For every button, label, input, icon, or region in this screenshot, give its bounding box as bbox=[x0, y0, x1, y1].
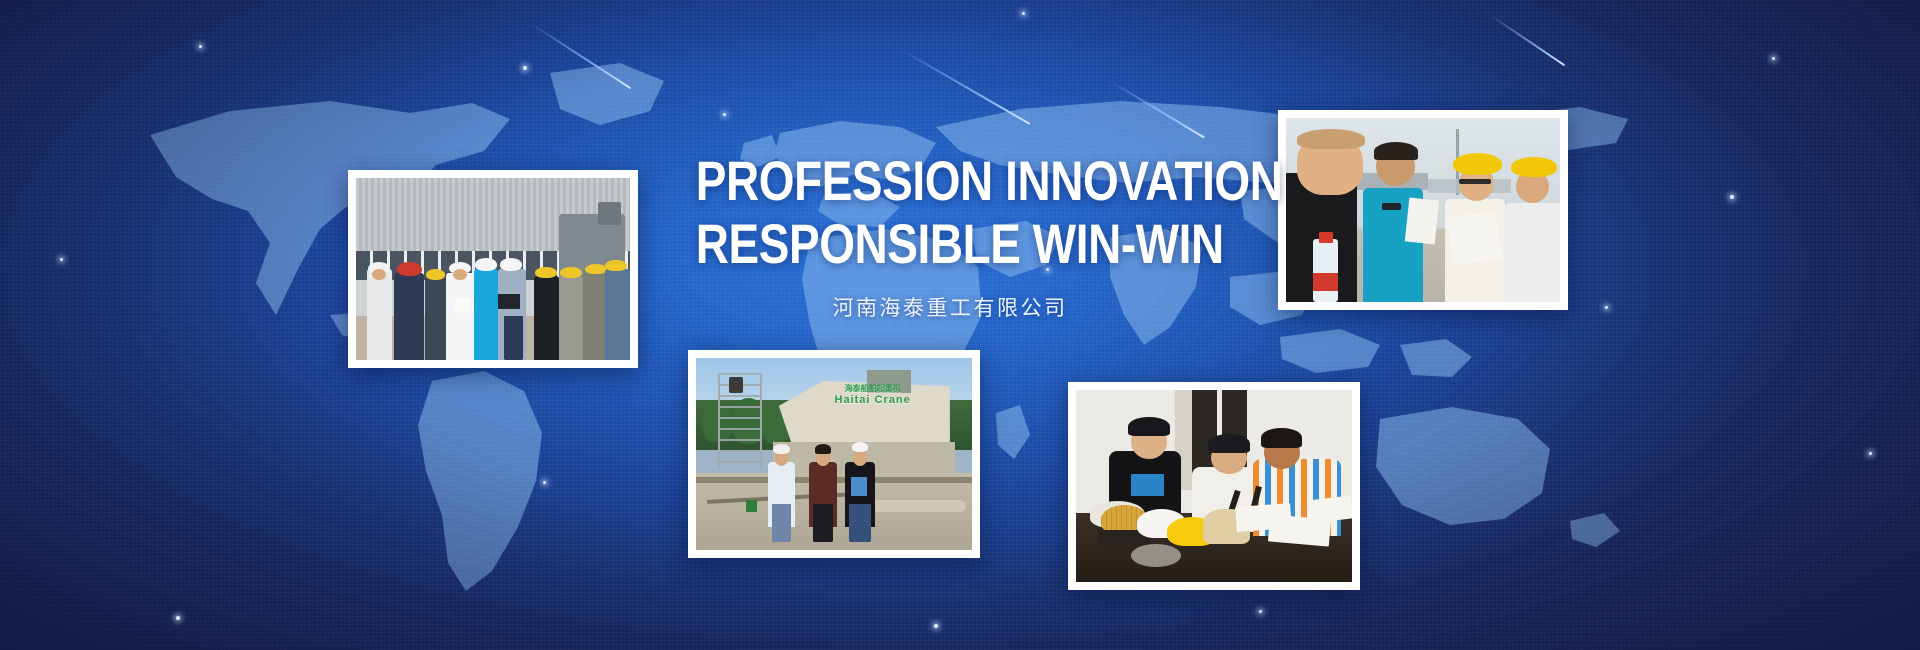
star-dot bbox=[543, 481, 546, 484]
star-dot bbox=[176, 616, 180, 620]
photo-haitai-crane: 海泰船舶起重机 Haitai Crane bbox=[696, 358, 972, 550]
star-dot bbox=[934, 624, 938, 628]
photo-site-meeting bbox=[356, 178, 630, 360]
star-dot bbox=[1730, 195, 1734, 199]
photo-card-site-meeting[interactable] bbox=[348, 170, 638, 368]
photo-card-client-discussion[interactable] bbox=[1278, 110, 1568, 310]
star-dot bbox=[1259, 610, 1262, 613]
star-dot bbox=[1022, 12, 1025, 15]
star-dot bbox=[523, 66, 527, 70]
hero-banner: 海泰船舶起重机 Haitai Crane bbox=[0, 0, 1920, 650]
crane-sign: 海泰船舶起重机 Haitai Crane bbox=[812, 385, 933, 406]
hero-text-block: PROFESSION INNOVATION RESPONSIBLE WIN-WI… bbox=[640, 152, 1260, 322]
crane-sign-chinese: 海泰船舶起重机 bbox=[812, 385, 933, 394]
star-dot bbox=[1772, 57, 1775, 60]
headline-line-1: PROFESSION INNOVATION bbox=[696, 152, 1204, 209]
star-dot bbox=[199, 45, 202, 48]
photo-card-contract-signing[interactable] bbox=[1068, 382, 1360, 590]
photo-client-discussion bbox=[1286, 118, 1560, 302]
photo-contract-signing bbox=[1076, 390, 1352, 582]
star-dot bbox=[60, 258, 63, 261]
star-dot bbox=[1605, 306, 1608, 309]
headline-line-2: RESPONSIBLE WIN-WIN bbox=[696, 215, 1204, 272]
star-dot bbox=[1869, 452, 1872, 455]
company-name-subtitle: 河南海泰重工有限公司 bbox=[640, 292, 1260, 322]
crane-sign-english: Haitai Crane bbox=[812, 394, 933, 406]
photo-card-haitai-crane[interactable]: 海泰船舶起重机 Haitai Crane bbox=[688, 350, 980, 558]
star-dot bbox=[723, 113, 726, 116]
